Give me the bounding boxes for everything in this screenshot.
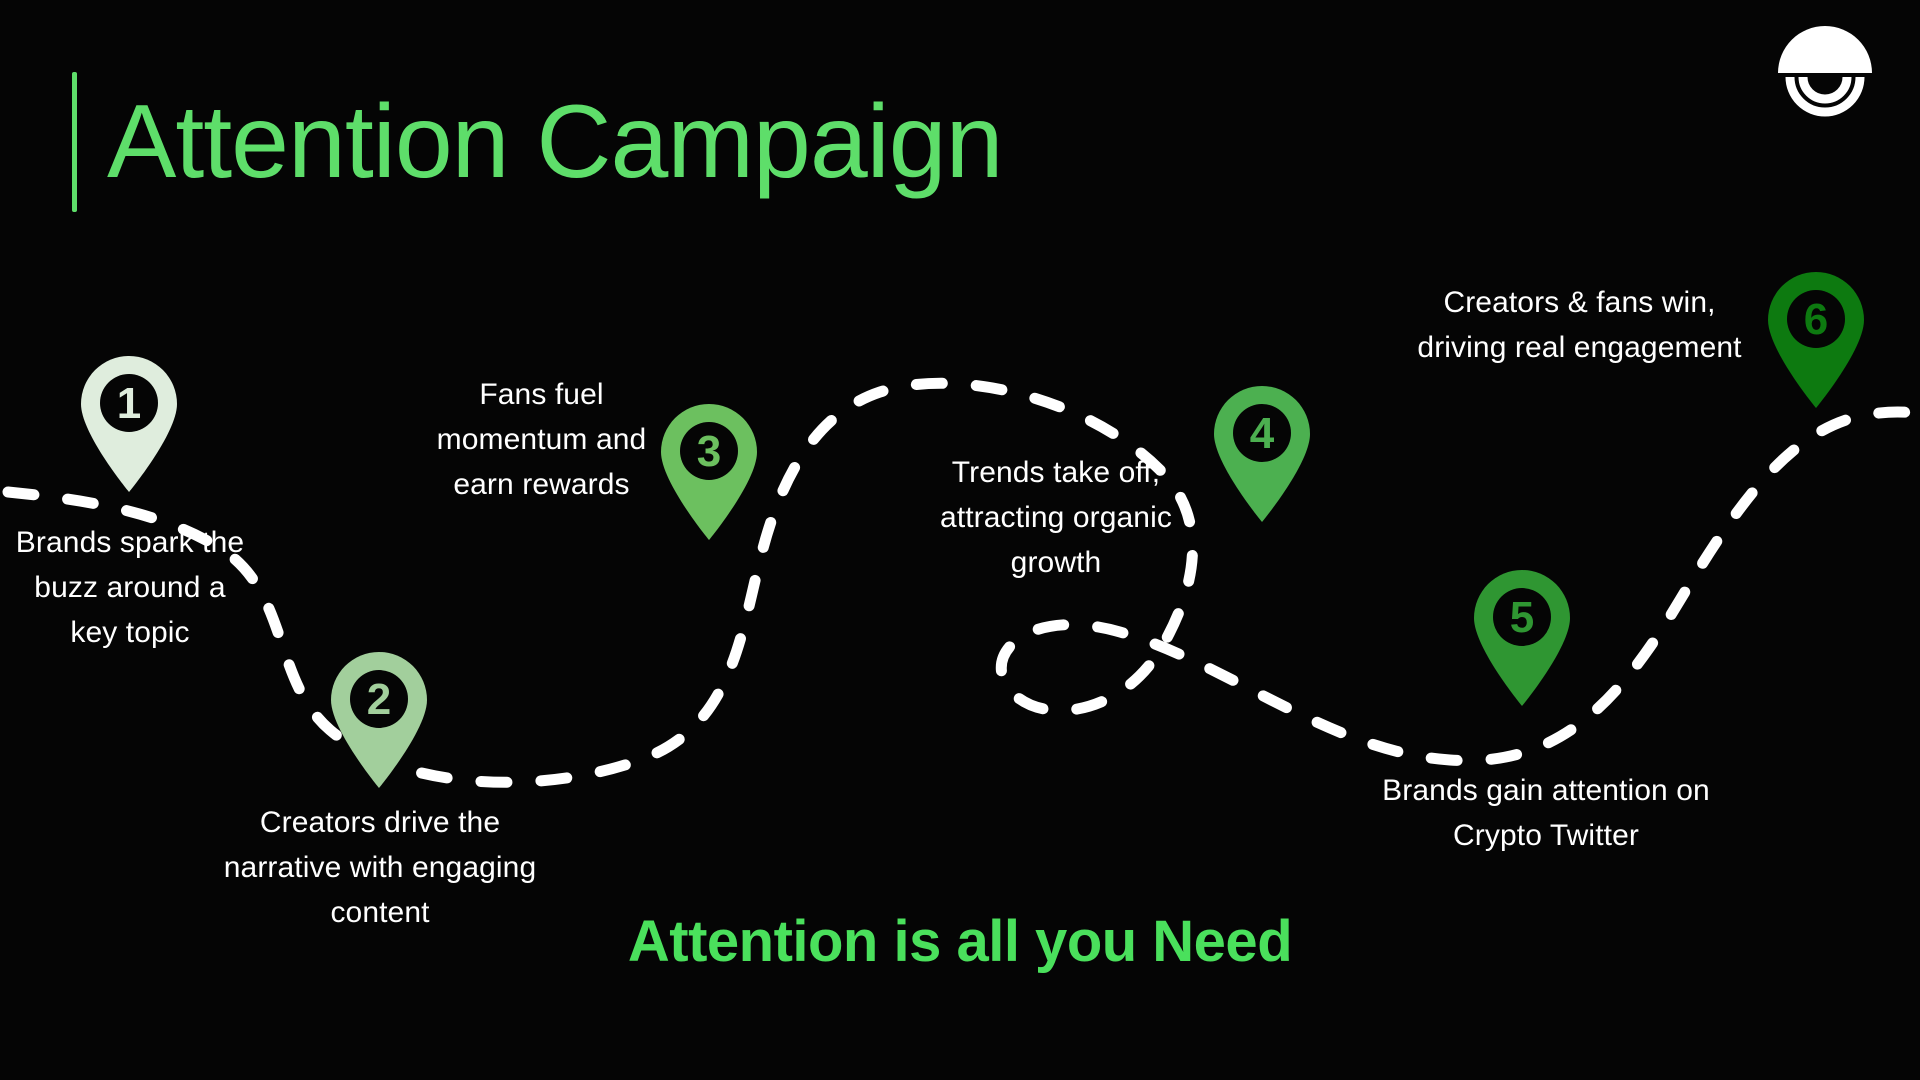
step-pin-4-number: 4 [1208, 382, 1316, 486]
page-title-text: Attention Campaign [107, 72, 1002, 212]
step-pin-6[interactable]: 6 [1762, 268, 1870, 408]
step-pin-6-number: 6 [1762, 268, 1870, 372]
step-pin-4[interactable]: 4 [1208, 382, 1316, 522]
step-pin-5[interactable]: 5 [1468, 566, 1576, 706]
slide-canvas: Attention Campaign 1 Brands spark the bu… [0, 0, 1920, 1080]
step-pin-3[interactable]: 3 [655, 400, 763, 540]
step-caption-1: Brands spark the buzz around a key topic [10, 520, 250, 655]
title-accent-bar [72, 72, 77, 212]
step-pin-2-number: 2 [325, 648, 433, 752]
step-pin-1-number: 1 [75, 352, 183, 456]
step-pin-1[interactable]: 1 [75, 352, 183, 492]
step-pin-3-number: 3 [655, 400, 763, 504]
tagline: Attention is all you Need [0, 908, 1920, 975]
step-pin-2[interactable]: 2 [325, 648, 433, 788]
step-caption-5: Brands gain attention on Crypto Twitter [1340, 768, 1752, 858]
brand-logo-icon [1768, 16, 1882, 130]
step-caption-3: Fans fuel momentum and earn rewards [434, 372, 649, 507]
step-pin-5-number: 5 [1468, 566, 1576, 670]
step-caption-4: Trends take off, attracting organic grow… [922, 450, 1190, 585]
step-caption-6: Creators & fans win, driving real engage… [1412, 280, 1747, 370]
page-title: Attention Campaign [72, 72, 1002, 212]
